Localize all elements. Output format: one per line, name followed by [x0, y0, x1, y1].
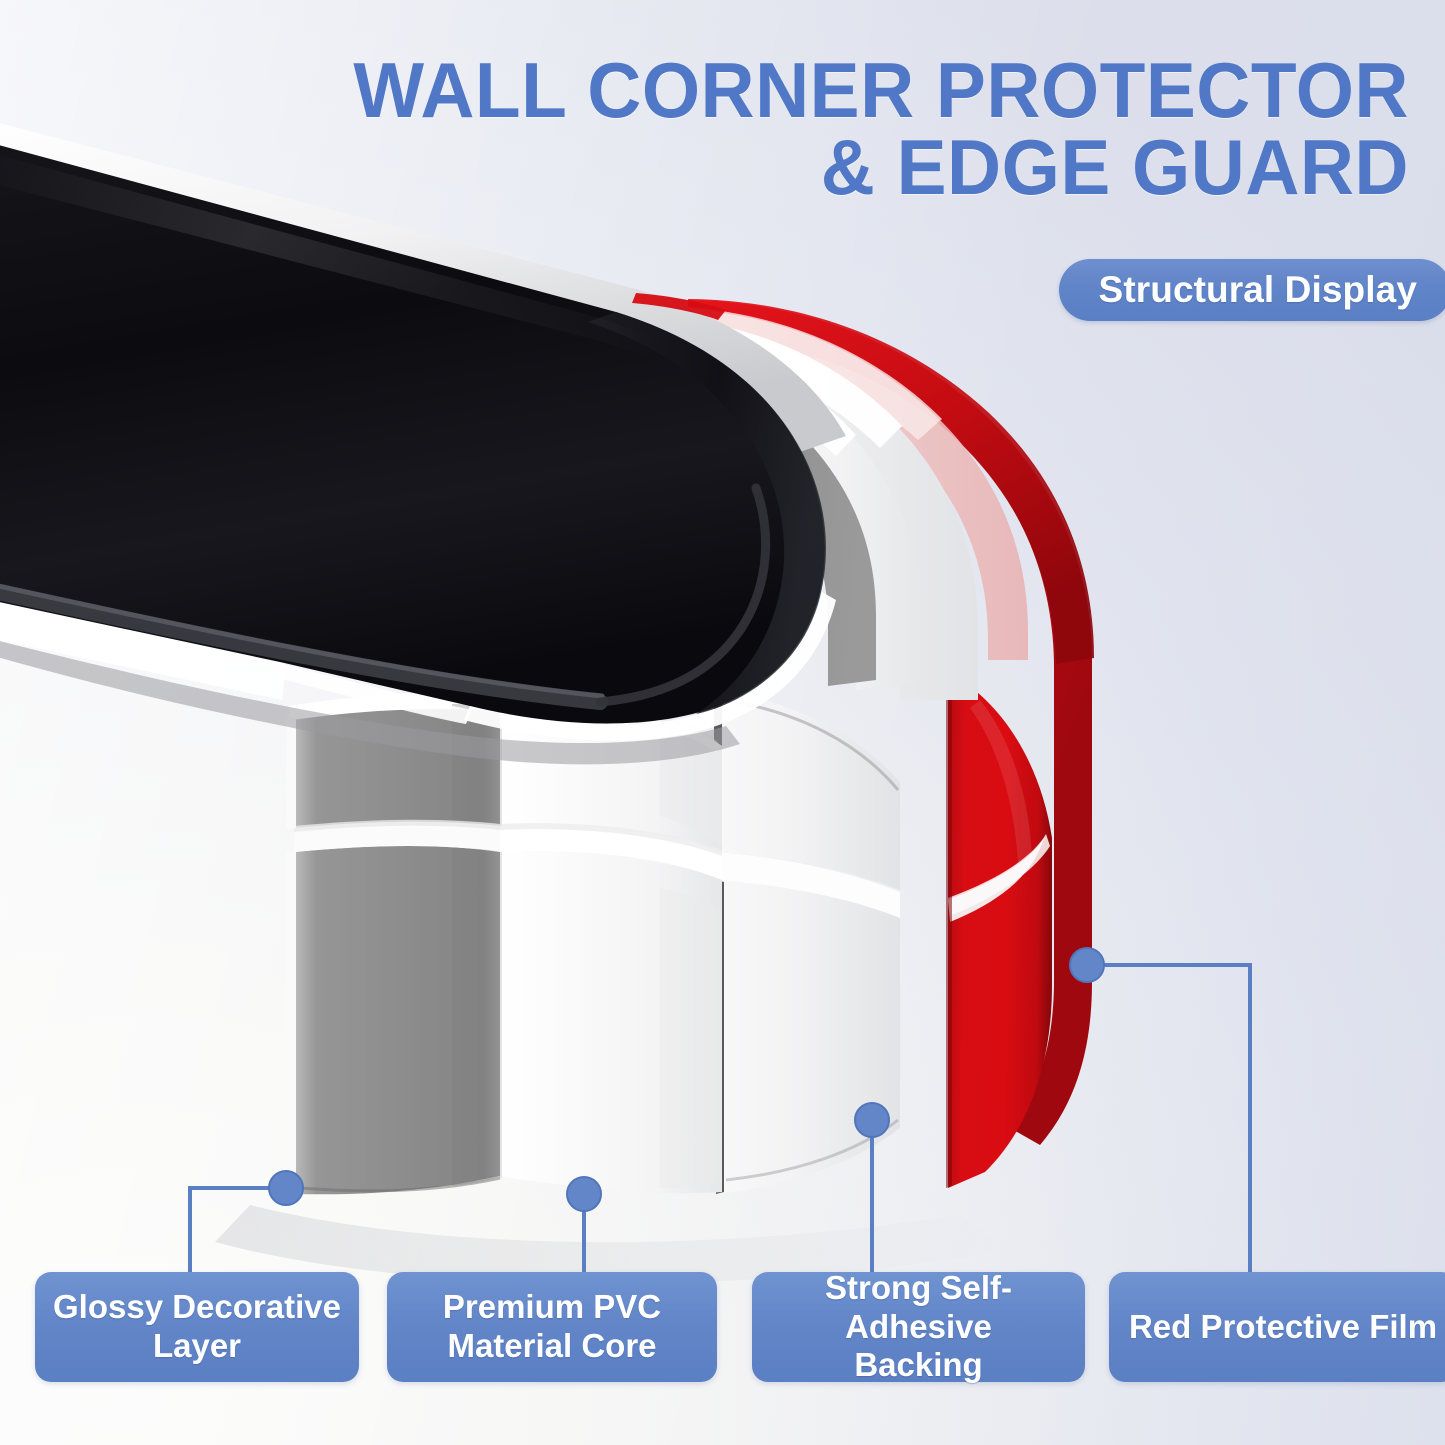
callout-label-3-line-2: Backing [854, 1346, 982, 1383]
callout-label-4-line-1: Red Protective Film [1129, 1308, 1437, 1345]
callout-label-3-line-1: Strong Self-Adhesive [825, 1269, 1012, 1345]
structural-display-badge: Structural Display [1059, 259, 1445, 321]
callout-label-1-line-2: Layer [153, 1327, 241, 1364]
title-line-2: & EDGE GUARD [276, 129, 1409, 206]
callout-label-2-line-2: Material Core [447, 1327, 656, 1364]
page-title: WALL CORNER PROTECTOR & EDGE GUARD [229, 52, 1409, 206]
badge-label: Structural Display [1099, 269, 1417, 311]
callout-label-red-protective-film[interactable]: Red Protective Film [1109, 1272, 1445, 1382]
product-illustration [0, 0, 1445, 1445]
callout-label-strong-self-adhesive-backing[interactable]: Strong Self-Adhesive Backing [752, 1272, 1085, 1382]
callout-label-1-line-1: Glossy Decorative [53, 1288, 341, 1325]
callout-label-glossy-decorative-layer[interactable]: Glossy Decorative Layer [35, 1272, 359, 1382]
product-infographic: WALL CORNER PROTECTOR & EDGE GUARD Struc… [0, 0, 1445, 1445]
layer-glossy-decorative [0, 118, 846, 764]
callout-label-2-line-1: Premium PVC [443, 1288, 661, 1325]
callout-label-premium-pvc-material-core[interactable]: Premium PVC Material Core [387, 1272, 717, 1382]
title-line-1: WALL CORNER PROTECTOR [276, 52, 1409, 129]
